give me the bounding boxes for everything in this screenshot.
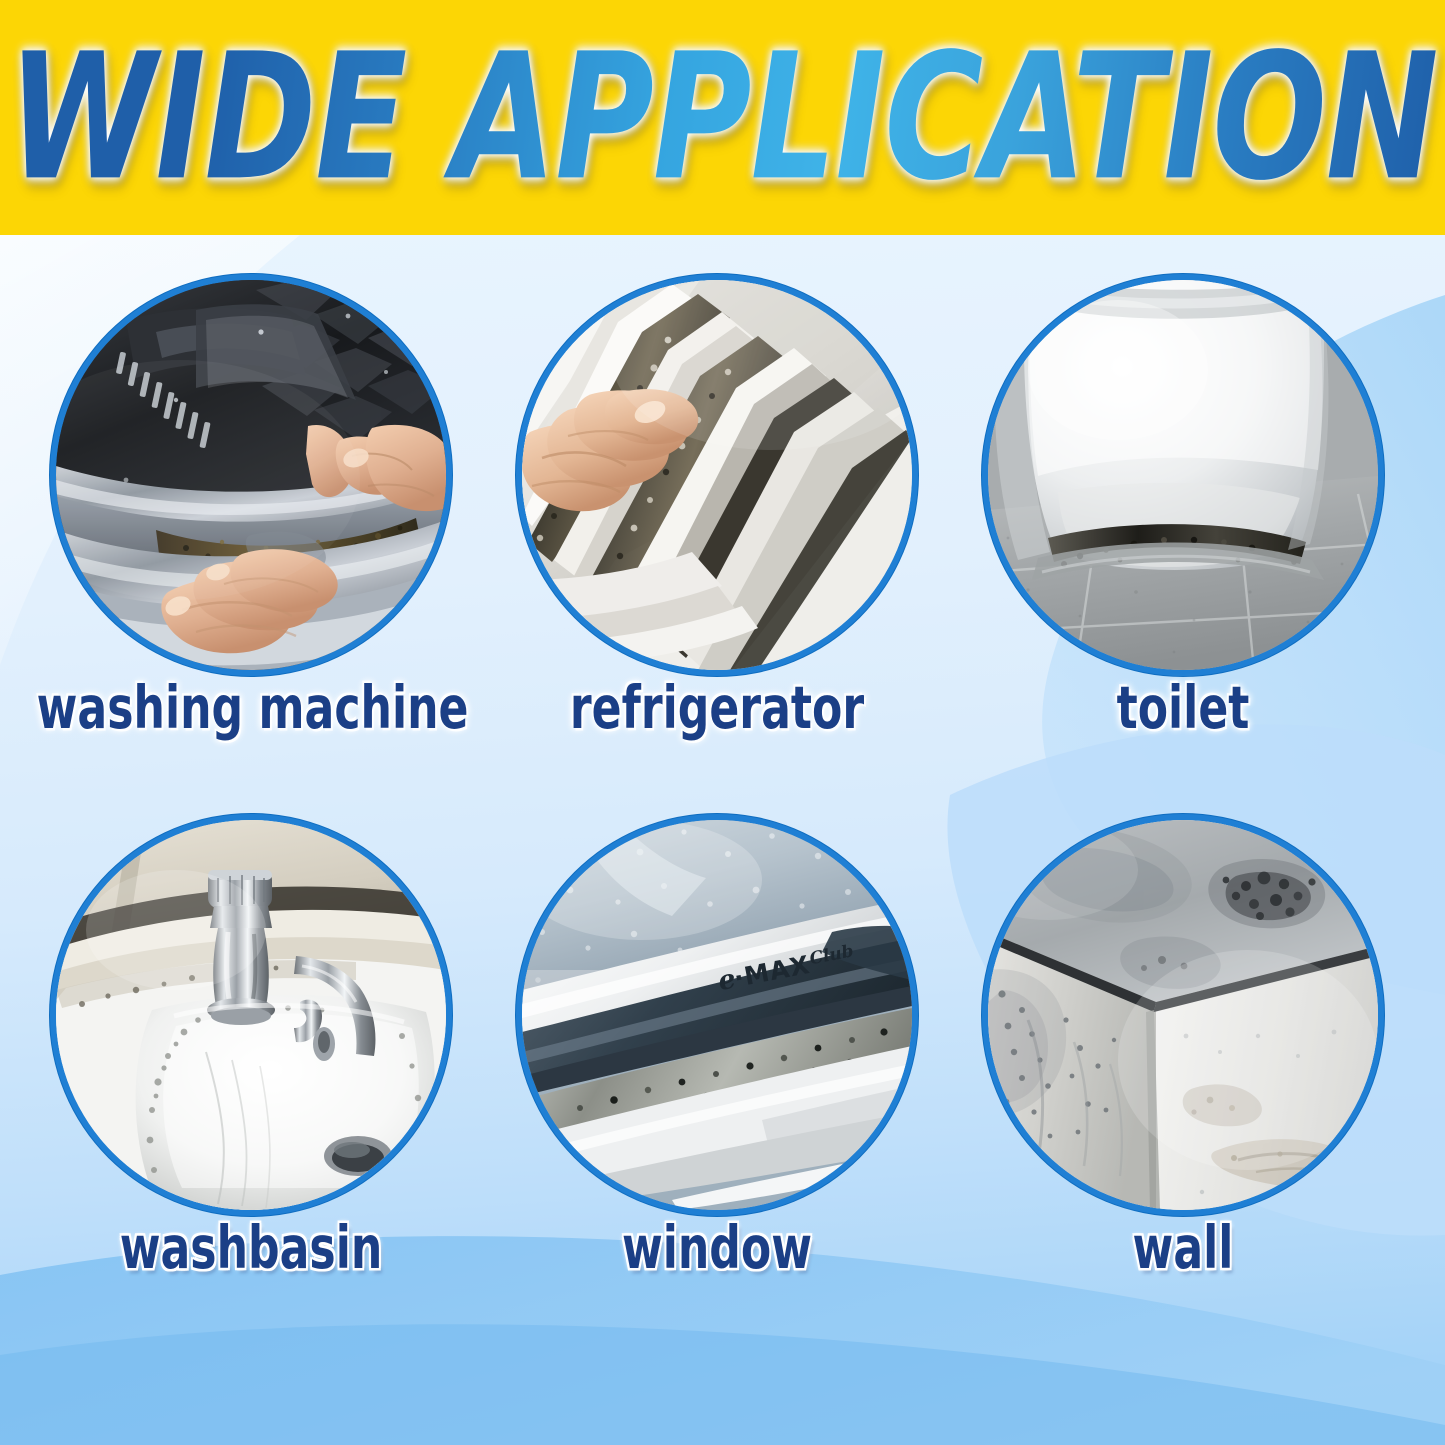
photo-circle-wall xyxy=(988,820,1378,1210)
caption-window: window xyxy=(503,1218,932,1279)
gallery-item-washing-machine[interactable]: washing machine xyxy=(18,270,484,830)
toilet-illustration xyxy=(988,280,1378,670)
gallery-item-window[interactable]: e ·MAX Club xyxy=(484,810,950,1370)
photo-circle-window: e ·MAX Club xyxy=(522,820,912,1210)
header-banner: WIDE APPLICATION xyxy=(0,0,1445,235)
window-illustration: e ·MAX Club xyxy=(522,820,912,1210)
washbasin-illustration xyxy=(56,820,446,1210)
photo-circle-toilet xyxy=(988,280,1378,670)
application-gallery: washing machine xyxy=(0,235,1445,1445)
caption-wall: wall xyxy=(969,1218,1398,1279)
caption-washbasin: washbasin xyxy=(37,1218,466,1279)
caption-toilet: toilet xyxy=(969,678,1398,739)
caption-refrigerator: refrigerator xyxy=(503,678,932,739)
gallery-item-washbasin[interactable]: washbasin xyxy=(18,810,484,1370)
wall-illustration xyxy=(988,820,1378,1210)
photo-circle-washing-machine xyxy=(56,280,446,670)
gallery-item-toilet[interactable]: toilet xyxy=(950,270,1416,830)
photo-circle-refrigerator xyxy=(522,280,912,670)
caption-washing-machine: washing machine xyxy=(37,678,466,739)
photo-circle-washbasin xyxy=(56,820,446,1210)
refrigerator-illustration xyxy=(522,280,912,670)
gallery-item-wall[interactable]: wall xyxy=(950,810,1416,1370)
gallery-item-refrigerator[interactable]: refrigerator xyxy=(484,270,950,830)
poster-root: WIDE APPLICATION xyxy=(0,0,1445,1445)
page-title: WIDE APPLICATION xyxy=(8,30,1438,204)
washing-machine-illustration xyxy=(56,280,446,670)
